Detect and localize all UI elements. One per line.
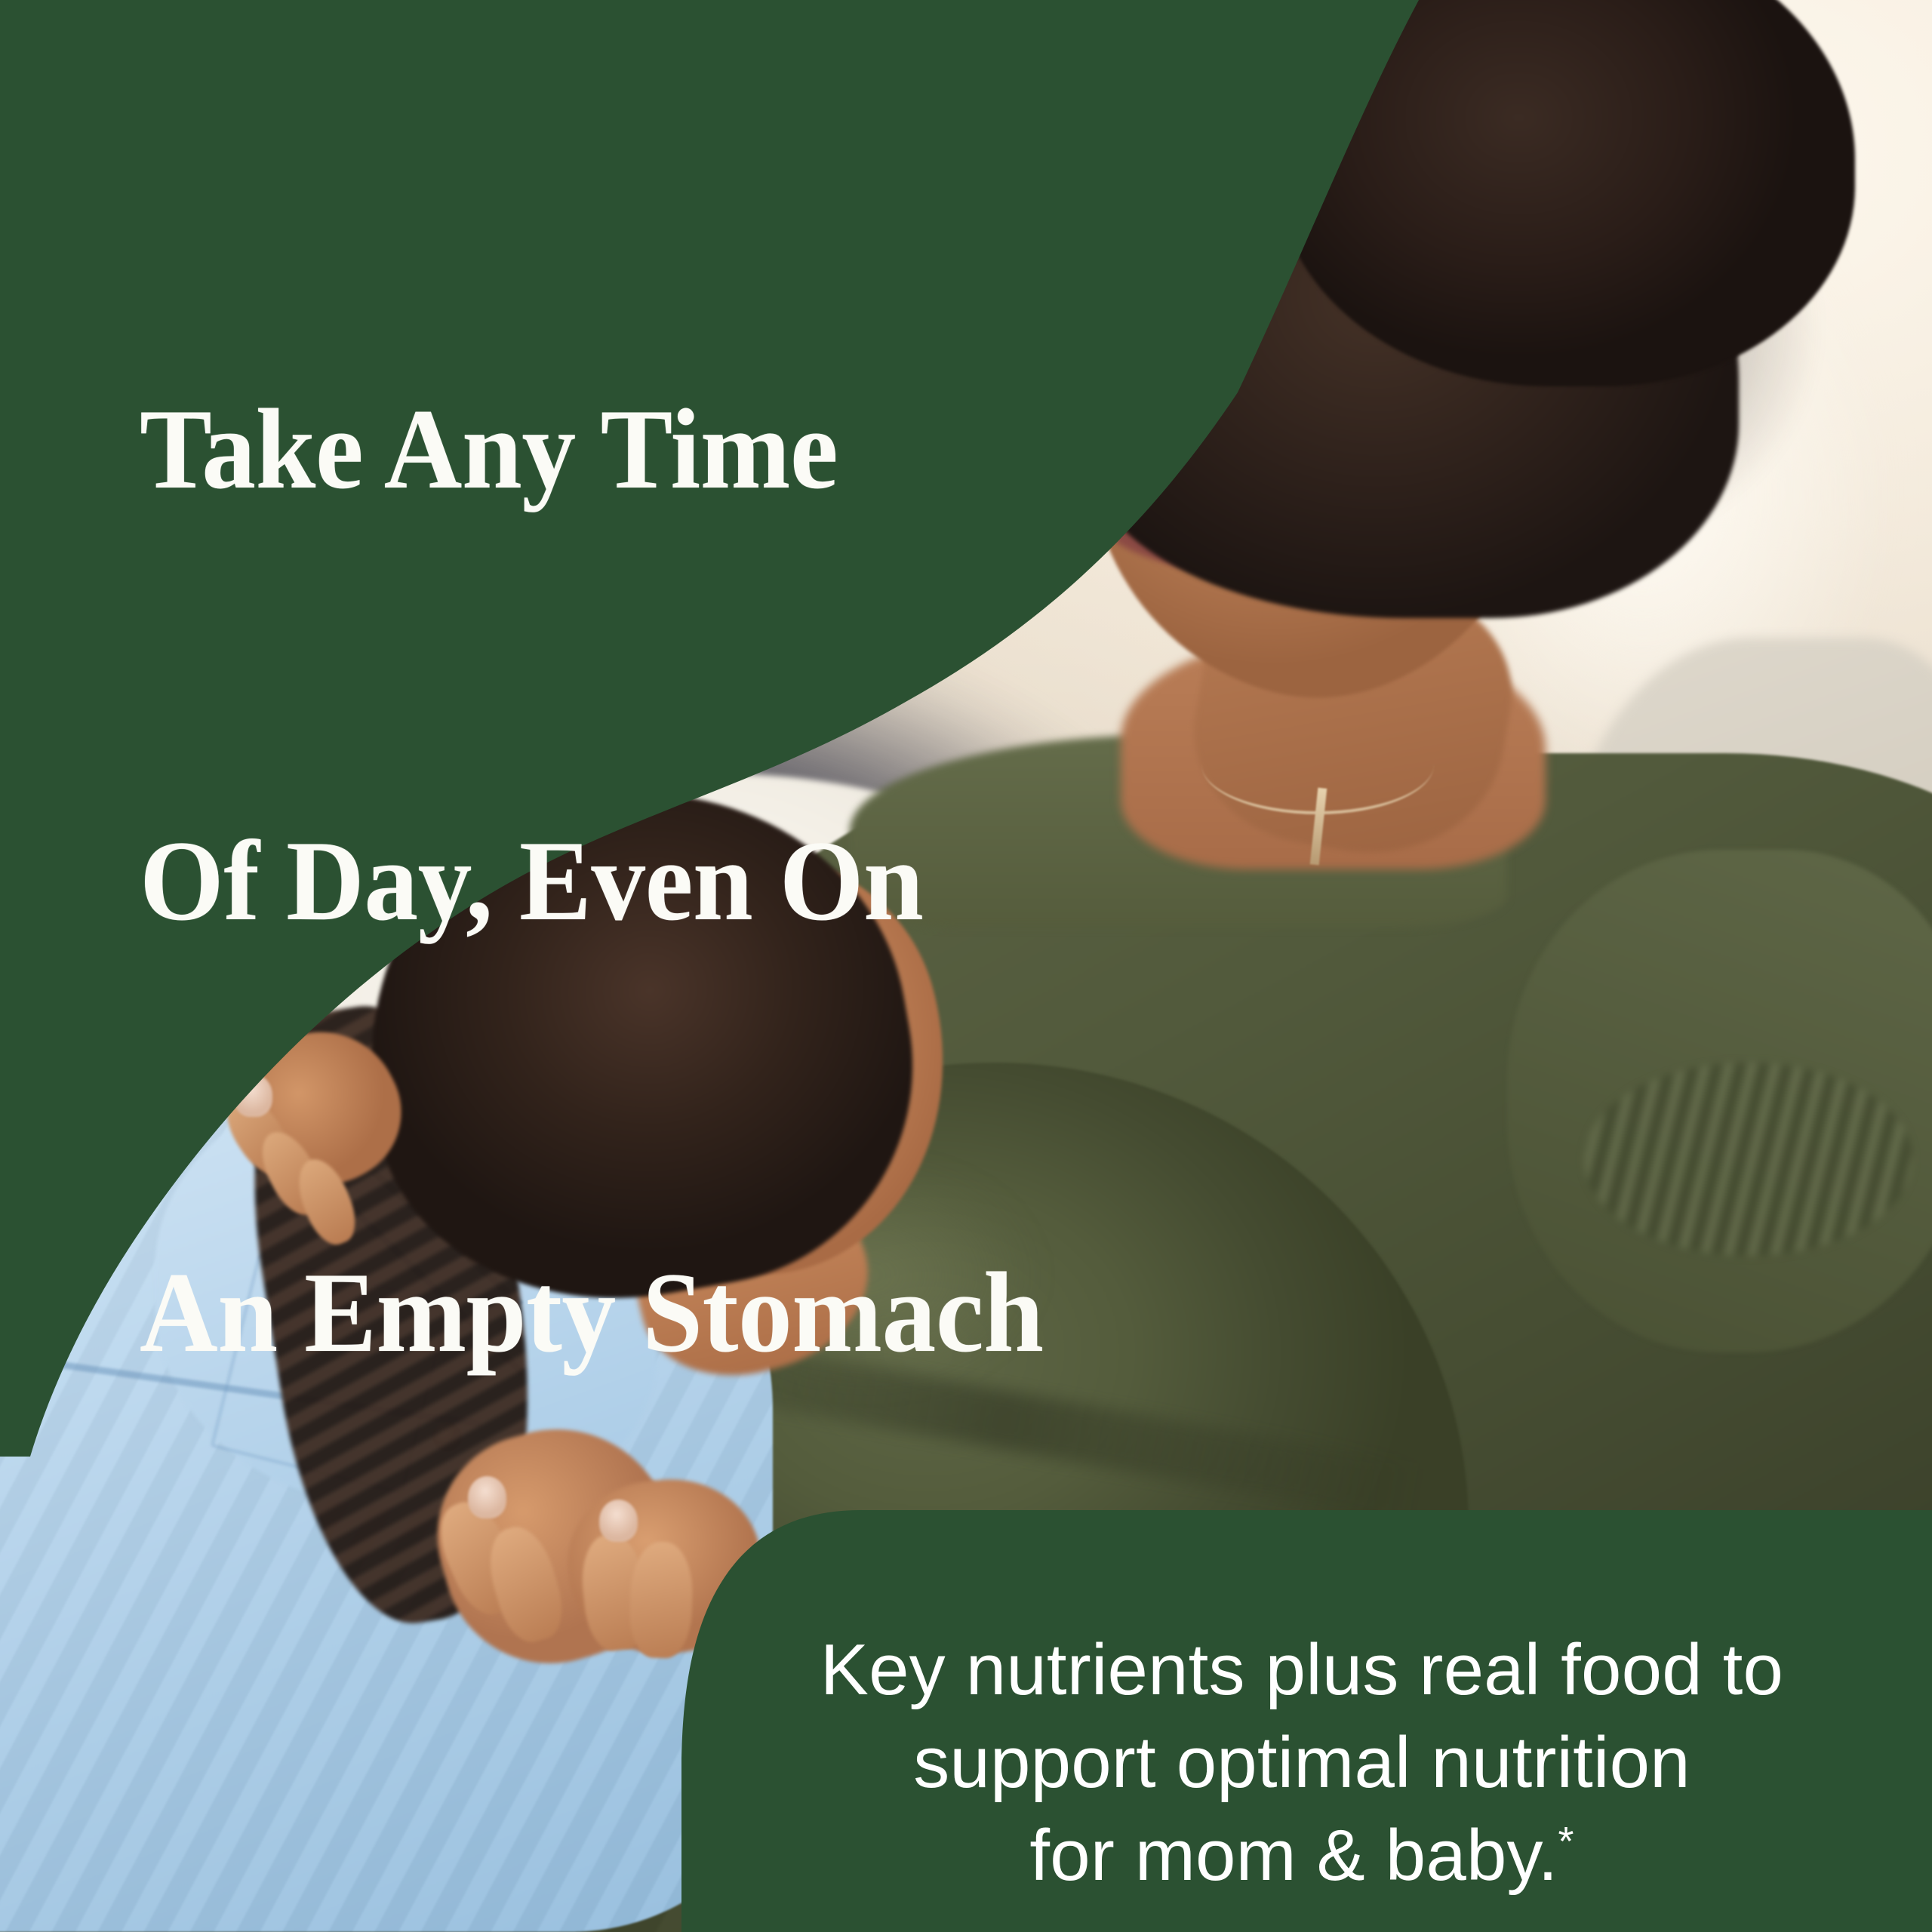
headline: Take Any Time Of Day, Even On An Empty S… (140, 89, 1044, 1672)
subcopy-line-3-text: for mom & baby. (1029, 1815, 1558, 1896)
subcopy-line-1: Key nutrients plus real food to (724, 1624, 1879, 1717)
headline-line-3: An Empty Stomach (140, 1241, 1044, 1385)
subcopy-line-2: support optimal nutrition (724, 1717, 1879, 1810)
subcopy: Key nutrients plus real food to support … (724, 1624, 1879, 1903)
subcopy-line-3: for mom & baby.* (724, 1810, 1879, 1903)
headline-line-1: Take Any Time (140, 377, 1044, 521)
ad-creative: Take Any Time Of Day, Even On An Empty S… (0, 0, 1932, 1932)
headline-line-2: Of Day, Even On (140, 809, 1044, 953)
mother-sleeve-ruffle (1584, 1063, 1912, 1256)
footnote-asterisk: * (1558, 1819, 1574, 1864)
